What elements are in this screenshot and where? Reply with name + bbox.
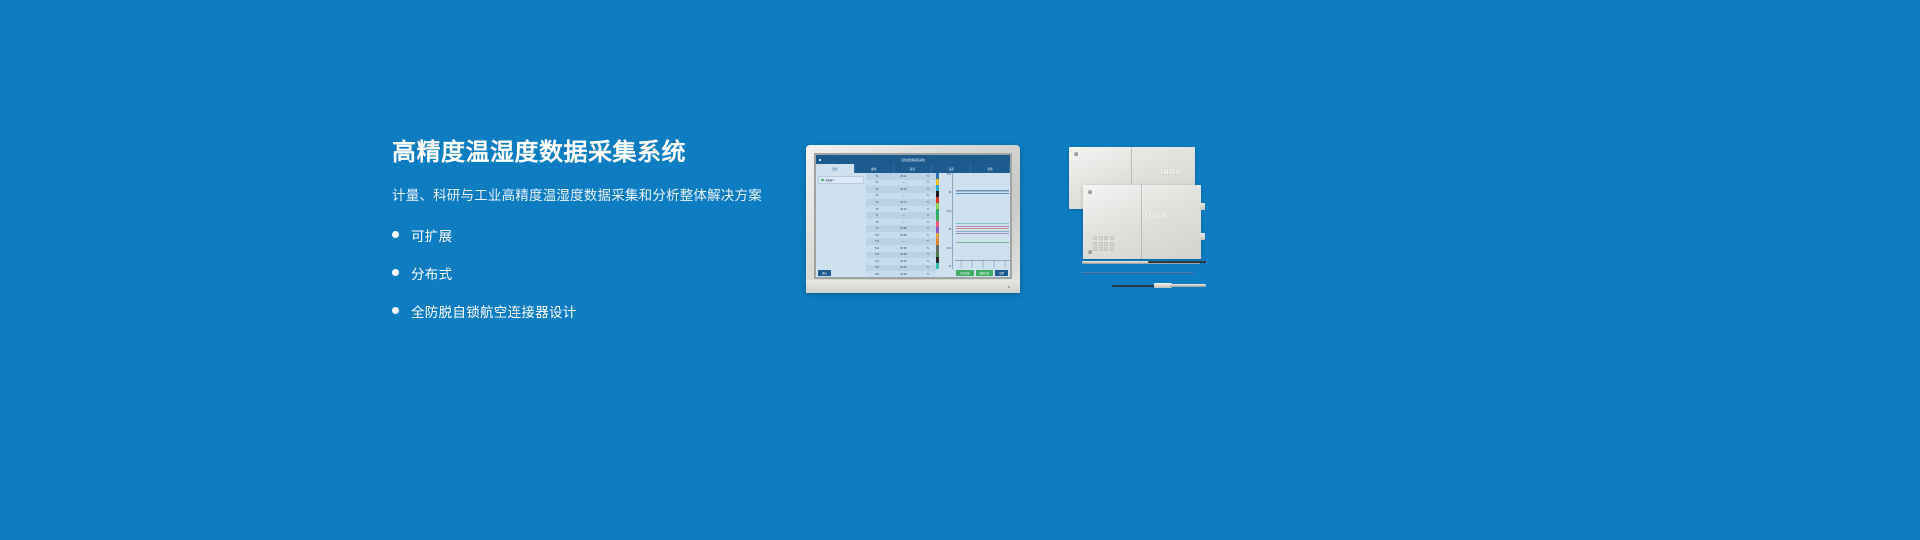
port-cell-icon (1110, 242, 1114, 246)
list-item: 分布式 (392, 263, 792, 283)
cell-value: 26.14 (887, 188, 919, 191)
cell-unit: ℃ (919, 247, 936, 250)
bullet-icon (392, 307, 399, 314)
cell-channel: T16 (866, 273, 887, 276)
page-title: 高精度温湿度数据采集系统 (392, 140, 792, 166)
cell-unit: ℃ (919, 208, 936, 211)
port-cell-icon (1093, 236, 1097, 240)
cell-channel: T1 (866, 175, 887, 178)
probe-cable (1148, 261, 1206, 263)
cell-channel: T13 (866, 253, 887, 256)
cell-unit: ℃ (919, 273, 936, 276)
port-cell-icon (1104, 247, 1108, 251)
x-tick: 09:40:00 (982, 260, 984, 269)
cell-channel: T3 (866, 188, 887, 191)
y-tick: 26.4 (939, 174, 952, 176)
cell-unit: ℃ (919, 221, 936, 224)
trend-series-line (956, 193, 1009, 194)
status-led-icon (821, 179, 824, 182)
cell-channel: T11 (866, 240, 887, 243)
cell-value: 26.28 (887, 253, 919, 256)
acquisition-module-bottom: INON (1083, 185, 1201, 259)
cell-unit: ℃ (919, 175, 936, 178)
cell-value: ---- (887, 221, 919, 224)
cell-unit: ℃ (919, 266, 936, 269)
port-cell-icon (1099, 236, 1103, 240)
cell-channel: T15 (866, 266, 887, 269)
cell-value: 25.90 (887, 247, 919, 250)
port-cell-icon (1099, 242, 1103, 246)
panel-seam (1141, 185, 1142, 259)
bullet-icon (392, 231, 399, 238)
feature-label: 全防脱自锁航空连接器设计 (411, 301, 577, 321)
probe-cable (1112, 285, 1160, 287)
list-item: 全防脱自锁航空连接器设计 (392, 301, 792, 321)
chart-y-axis: 26.4 26 25.6 25 24.6 24 (939, 173, 953, 269)
trend-series-line (956, 226, 1009, 227)
channel-table: T1 25.11 ℃ T2 ---- ℃ T3 26.14 ℃ (866, 173, 936, 269)
y-tick: 25.6 (939, 211, 952, 213)
banner-copy: 高精度温湿度数据采集系统 计量、科研与工业高精度温湿度数据采集和分析整体解决方案… (392, 140, 792, 339)
tab-curve[interactable]: 曲线 (855, 164, 894, 173)
table-row[interactable]: T16 26.54 ℃ (866, 271, 936, 277)
sensor-probes (1082, 258, 1207, 294)
export-data-button[interactable]: 数据导出 (976, 270, 994, 277)
trend-chart[interactable]: 09:20:00 09:30:00 09:40:00 09:50:00 10:0… (953, 173, 1010, 269)
monitor-screen-frame: 温湿度数据采集系统 监控 曲线 报表 设置 帮助 采集器-1 (814, 153, 1012, 279)
trend-series-line (956, 191, 1009, 192)
monitor-product-image: 温湿度数据采集系统 监控 曲线 报表 设置 帮助 采集器-1 (806, 145, 1020, 293)
port-cell-icon (1099, 247, 1103, 251)
x-tick: 09:20:00 (960, 260, 962, 269)
cell-value: ---- (887, 181, 919, 184)
tab-settings[interactable]: 设置 (932, 164, 971, 173)
probe-rod-blue (1082, 272, 1194, 274)
feature-label: 可扩展 (411, 225, 452, 245)
screw-icon (1088, 190, 1092, 194)
start-collect-button[interactable]: 开始采集 (956, 270, 974, 277)
settings-button[interactable]: 设置 (995, 270, 1008, 277)
connector-port-icon (1200, 233, 1205, 240)
sensor-port-grid (1093, 236, 1114, 251)
cell-value: 25.63 (887, 208, 919, 211)
module-brand-label: INON (1161, 169, 1183, 176)
y-tick: 24.6 (939, 248, 952, 250)
device-tree-panel: 采集器-1 (816, 173, 866, 269)
cell-unit: ℃ (919, 253, 936, 256)
list-item: 可扩展 (392, 225, 792, 245)
x-tick: 09:30:00 (971, 260, 973, 269)
product-banner: 高精度温湿度数据采集系统 计量、科研与工业高精度温湿度数据采集和分析整体解决方案… (0, 0, 1920, 540)
trend-series-line (956, 242, 1009, 243)
y-tick: 25 (939, 229, 952, 231)
window-menu-icon (819, 159, 821, 161)
x-tick: 09:50:00 (993, 260, 995, 269)
chart-x-ticks: 09:20:00 09:30:00 09:40:00 09:50:00 10:0… (955, 260, 1010, 269)
monitor-chin (806, 280, 1020, 293)
software-body: 采集器-1 T1 25.11 ℃ T2 ---- ℃ (816, 173, 1010, 269)
cell-channel: T9 (866, 227, 887, 230)
cell-value: 26.15 (887, 260, 919, 263)
bullet-icon (392, 269, 399, 276)
screw-icon (1074, 152, 1078, 156)
software-screen: 温湿度数据采集系统 监控 曲线 报表 设置 帮助 采集器-1 (816, 155, 1010, 277)
cell-value: ---- (887, 240, 919, 243)
cell-channel: T4 (866, 194, 887, 197)
module-brand-label: INON (1146, 213, 1168, 220)
cell-value: 26.90 (887, 266, 919, 269)
cell-value: 26.86 (887, 234, 919, 237)
port-cell-icon (1093, 242, 1097, 246)
cell-value: 26.98 (887, 227, 919, 230)
exit-button[interactable]: 退出 (818, 270, 831, 277)
y-tick: 26 (939, 192, 952, 194)
window-title: 温湿度数据采集系统 (901, 158, 924, 162)
cell-unit: ℃ (919, 188, 936, 191)
x-tick: 10:00:00 (1003, 260, 1005, 269)
cell-value: 26.72 (887, 201, 919, 204)
cell-channel: T10 (866, 234, 887, 237)
tab-help[interactable]: 帮助 (971, 164, 1010, 173)
cell-value: 25.11 (887, 175, 919, 178)
port-cell-icon (1110, 247, 1114, 251)
feature-label: 分布式 (411, 263, 452, 283)
cell-channel: T12 (866, 247, 887, 250)
port-cell-icon (1110, 236, 1114, 240)
cell-unit: ℃ (919, 214, 936, 217)
power-led-icon (1008, 286, 1010, 288)
cell-unit: ℃ (919, 194, 936, 197)
port-cell-icon (1104, 236, 1108, 240)
cell-channel: T2 (866, 181, 887, 184)
trend-series-line (956, 223, 1009, 224)
feature-list: 可扩展 分布式 全防脱自锁航空连接器设计 (392, 225, 792, 321)
trend-series-line (956, 233, 1009, 234)
device-label: 采集器-1 (825, 178, 834, 182)
y-tick: 24 (939, 266, 952, 268)
footer-button-group: 开始采集 数据导出 设置 (956, 270, 1008, 277)
cell-channel: T6 (866, 208, 887, 211)
trend-series-line (956, 231, 1009, 232)
cell-value: ---- (887, 194, 919, 197)
trend-series-line (956, 228, 1009, 229)
probe-handle (1170, 284, 1206, 287)
cell-channel: T14 (866, 260, 887, 263)
software-tabbar: 监控 曲线 报表 设置 帮助 (816, 164, 1010, 173)
tab-monitor[interactable]: 监控 (816, 164, 855, 173)
cell-unit: ℃ (919, 181, 936, 184)
port-cell-icon (1093, 247, 1097, 251)
device-tree-item[interactable]: 采集器-1 (818, 176, 864, 184)
cell-value: ---- (887, 214, 919, 217)
cell-value: 26.54 (887, 273, 919, 276)
cell-unit: ℃ (919, 234, 936, 237)
cell-channel: T8 (866, 221, 887, 224)
tab-report[interactable]: 报表 (894, 164, 933, 173)
connector-port-icon (1200, 203, 1205, 210)
software-titlebar: 温湿度数据采集系统 (816, 155, 1010, 164)
cell-channel: T7 (866, 214, 887, 217)
port-cell-icon (1104, 242, 1108, 246)
cell-unit: ℃ (919, 201, 936, 204)
cell-unit: ℃ (919, 260, 936, 263)
screw-icon (1088, 250, 1092, 254)
cell-channel: T5 (866, 201, 887, 204)
cell-unit: ℃ (919, 240, 936, 243)
page-subtitle: 计量、科研与工业高精度温湿度数据采集和分析整体解决方案 (392, 188, 792, 204)
cell-unit: ℃ (919, 227, 936, 230)
